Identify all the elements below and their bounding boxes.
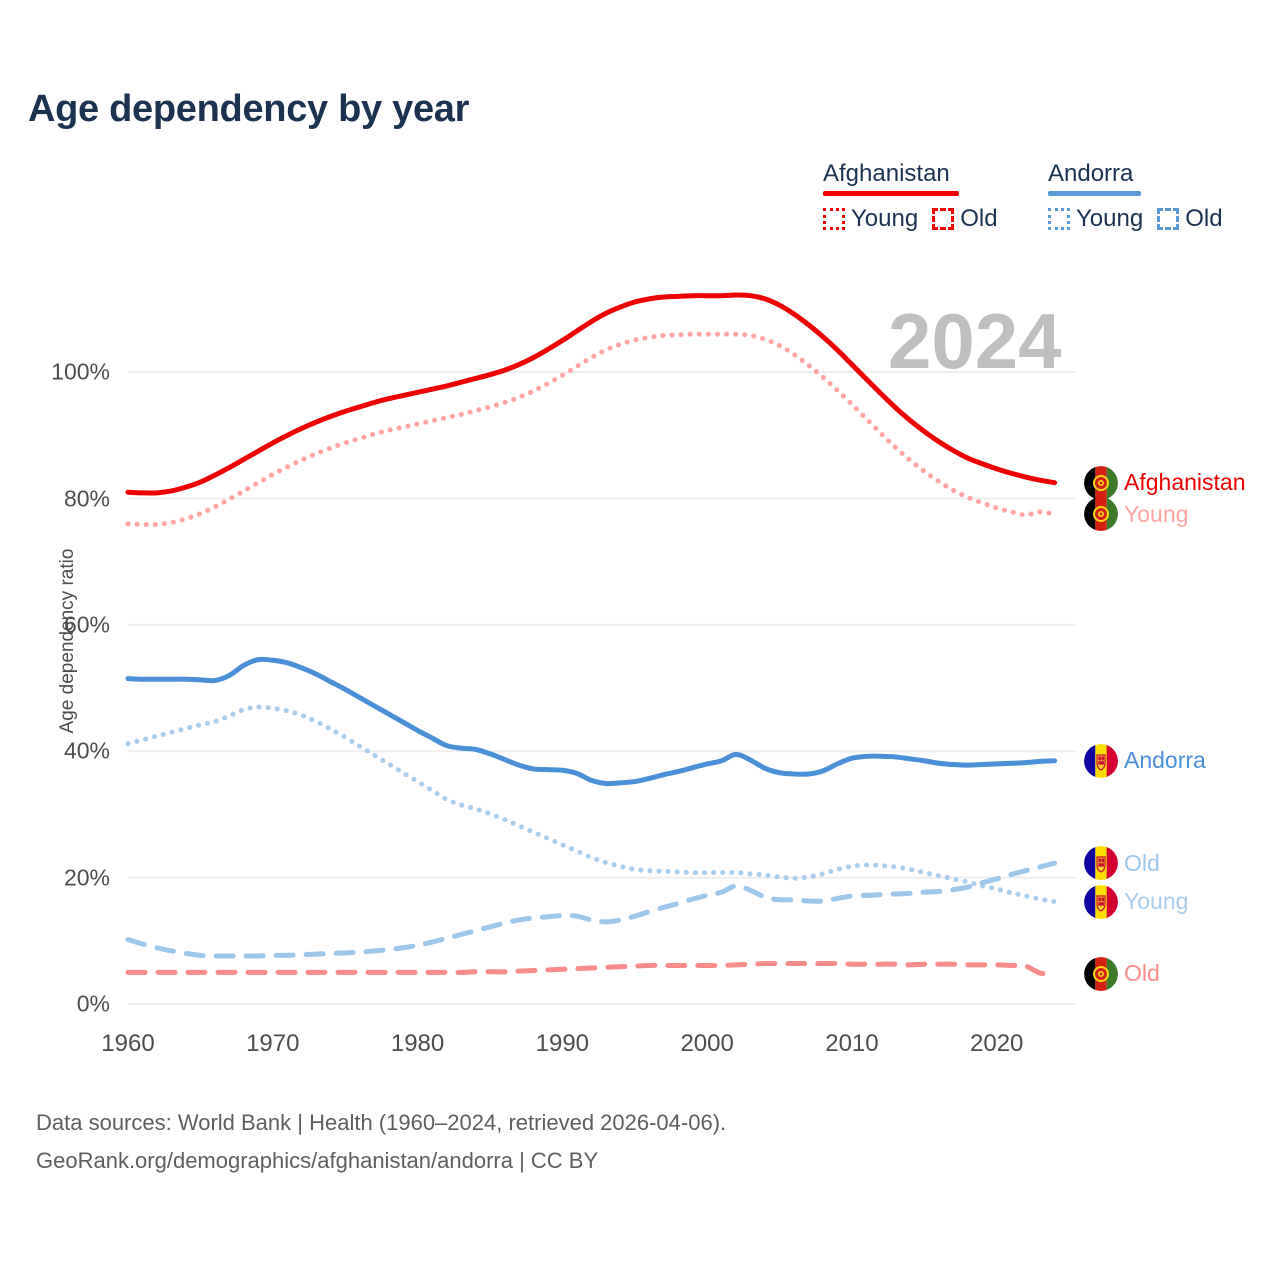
- andorra-flag-icon: [1084, 744, 1118, 778]
- end-label-text: Afghanistan: [1124, 469, 1245, 496]
- end-label-andorra-andorra[interactable]: Andorra: [1084, 744, 1206, 778]
- footer-data-sources: Data sources: World Bank | Health (1960–…: [36, 1104, 726, 1142]
- series-line-andorra_young: [128, 707, 1055, 902]
- series-line-afghanistan_old: [128, 964, 1055, 974]
- end-label-text: Young: [1124, 888, 1188, 915]
- end-label-text: Andorra: [1124, 747, 1206, 774]
- end-label-old-afghanistan[interactable]: Old: [1084, 957, 1160, 991]
- chart-canvas: [0, 0, 1280, 1280]
- end-label-afghanistan-afghanistan[interactable]: Afghanistan: [1084, 466, 1245, 500]
- end-label-text: Old: [1124, 850, 1160, 877]
- afghanistan-flag-icon: [1084, 957, 1118, 991]
- footer-attribution: GeoRank.org/demographics/afghanistan/and…: [36, 1142, 726, 1180]
- year-watermark: 2024: [888, 296, 1062, 387]
- andorra-flag-icon: [1084, 885, 1118, 919]
- andorra-flag-icon: [1084, 846, 1118, 880]
- afghanistan-flag-icon: [1084, 497, 1118, 531]
- end-label-text: Young: [1124, 501, 1188, 528]
- chart-plot-area: Age dependency ratio 0%20%40%60%80%100% …: [0, 0, 1280, 1280]
- end-label-young-andorra[interactable]: Young: [1084, 885, 1188, 919]
- chart-footer: Data sources: World Bank | Health (1960–…: [36, 1104, 726, 1180]
- series-line-andorra_total: [128, 659, 1055, 783]
- end-label-old-andorra[interactable]: Old: [1084, 846, 1160, 880]
- afghanistan-flag-icon: [1084, 466, 1118, 500]
- end-label-text: Old: [1124, 960, 1160, 987]
- end-label-young-afghanistan[interactable]: Young: [1084, 497, 1188, 531]
